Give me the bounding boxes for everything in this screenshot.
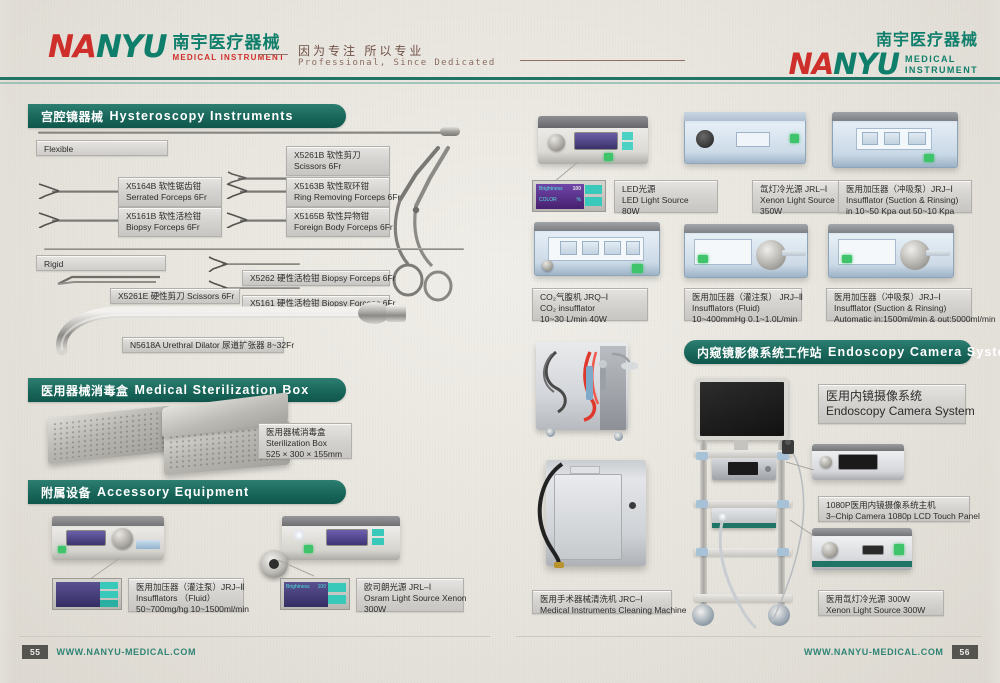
device-insufflators-fluid <box>684 224 808 278</box>
caption-scissors-flex: X5261B 软性剪刀 Scissors 6Fr <box>286 146 390 176</box>
footer-rule-right <box>516 636 982 637</box>
caption-ring-removing-cn: X5163B 软性取环钳 <box>294 181 382 192</box>
caption-led-en: LED Light Source <box>622 195 710 206</box>
caption-xenon-300w: 医用氙灯冷光源 300W Xenon Light Source 300W <box>818 590 944 616</box>
inset-insufflator-display <box>56 582 100 607</box>
logo-right: 南宇医疗器械 NANYU MEDICAL INSTRUMENT <box>788 26 978 79</box>
callout-line-xenon-300w <box>790 518 818 542</box>
footer-url-right[interactable]: WWW.NANYU-MEDICAL.COM <box>804 647 944 657</box>
caption-insufflators-fluid-cn: 医用加压器（灌注泵） JRJ–Ⅱ <box>692 292 794 303</box>
caption-camera-host-en: 3–Chip Camera 1080p LCD Touch Panel <box>826 511 962 522</box>
inset-osram-display: Brightness 100 <box>284 582 328 607</box>
device-led-power-led <box>604 153 613 161</box>
caption-serrated-cn: X5164B 软性锯齿钳 <box>126 181 214 192</box>
device-xenon-top <box>684 112 806 121</box>
caption-cleaning-machine: 医用手术器械清洗机 JRC–Ⅰ Medical Instruments Clea… <box>532 590 672 614</box>
cleaning-machine-caster-1 <box>546 428 555 437</box>
device-insufflator-knob <box>112 528 133 549</box>
footer-left: 55 WWW.NANYU-MEDICAL.COM <box>22 645 196 659</box>
device-insufflator-suction-1 <box>832 112 958 168</box>
caption-led-light-source: LED光源 LED Light Source 80W <box>614 180 718 213</box>
device-insufflator-display <box>66 530 106 546</box>
caption-camera-host-cn: 1080P医用内镜摄像系统主机 <box>826 500 962 511</box>
device-co2-readout-4 <box>626 241 640 255</box>
cleaning-machine-label-plate <box>570 466 600 474</box>
caption-biopsy-flex-en: Biopsy Forceps 6Fr <box>126 222 214 233</box>
catalog-spread: NANYU 南宇医疗器械 MEDICAL INSTRUMENT 因为专注 所以专… <box>0 0 1000 683</box>
page-header: NANYU 南宇医疗器械 MEDICAL INSTRUMENT 因为专注 所以专… <box>0 22 1000 80</box>
inset-led-display: Brightness 100 COLOR % <box>536 184 584 209</box>
caption-insufflator-suction-auto-spec: Automatic in:1500ml/min & out:5000ml/min <box>834 314 964 325</box>
logo-right-sub2: INSTRUMENT <box>905 65 978 76</box>
jaw-ring-removing-icon <box>226 183 248 199</box>
inset-insufflator-btn3 <box>100 600 118 607</box>
device-co2-insufflator <box>534 222 660 276</box>
caption-cleaning-machine-en: Medical Instruments Cleaning Machine <box>540 605 664 616</box>
header-rule-secondary <box>0 82 1000 84</box>
device-co2-top <box>534 222 660 231</box>
inset-led-secondary-label: COLOR <box>539 197 557 203</box>
device-xenon-power-led <box>790 134 799 143</box>
caption-endoscopy-camera-cn: 医用内镜摄像系统 <box>826 389 958 404</box>
caption-insufflator-suction-auto: 医用加压器（冲吸泵）JRJ–Ⅰ Insufflator (Suction & R… <box>826 288 972 321</box>
jaw-foreign-body-icon <box>226 212 248 228</box>
footer-rule-left <box>20 636 490 637</box>
callout-line-osram <box>276 556 318 580</box>
caption-insufflators-fluid: 医用加压器（灌注泵） JRJ–Ⅱ Insufflators (Fluid) 10… <box>684 288 802 321</box>
device-xenon-300w-top <box>812 528 912 536</box>
trolley-joint-1 <box>696 452 708 460</box>
caption-biopsy-flex: X5161B 软性活检钳 Biopsy Forceps 6Fr <box>118 207 222 237</box>
device-insufflator-suction-1-top <box>832 112 958 121</box>
slogan-rule-right <box>520 60 685 61</box>
device-co2-readout-2 <box>582 241 599 255</box>
device-camera-host-screen <box>838 454 878 470</box>
caption-led-spec: 80W <box>622 206 710 217</box>
caption-co2-insufflator: CO₂气腹机 JRQ–Ⅰ CO₂ insufflator 10~30 L/min… <box>532 288 648 321</box>
section-banner-accessory: 附属设备 Accessory Equipment <box>28 480 346 504</box>
caption-urethral-dilator: N5618A Urethral Dilator 尿道扩张器 8~32Fr <box>122 337 284 353</box>
device-insufflator-port <box>136 540 160 549</box>
caption-foreign-body-en: Foreign Body Forceps 6Fr <box>294 222 382 233</box>
trolley-joint-5 <box>696 548 708 556</box>
jaw-biopsy-x5262-icon <box>208 256 228 272</box>
device-insufflator-suction-auto-tubing <box>926 250 950 256</box>
caption-accessory-insufflator-en: Insufflators （Fluid） <box>136 593 236 604</box>
jaw-biopsy-flex-icon <box>38 212 60 228</box>
device-osram-display <box>326 529 368 546</box>
device-co2-power-led <box>632 264 643 273</box>
inset-osram-brightness-value: 100 <box>318 584 326 590</box>
tag-rigid-label: Rigid <box>44 259 158 270</box>
device-insufflators-fluid-top <box>684 224 808 233</box>
page-number-left: 55 <box>22 645 48 659</box>
device-camera-host-top <box>812 444 904 451</box>
caption-insufflator-suction-1-spec: in 10~50 Kpa out 50~10 Kpa <box>846 206 964 217</box>
device-camera-host-knob <box>820 456 832 468</box>
instrument-shaft-biopsy-x5262 <box>222 263 300 265</box>
caption-xenon-300w-en: Xenon Light Source 300W <box>826 605 936 616</box>
device-led-light-source <box>538 116 648 164</box>
inset-osram-brightness-label: Brightness <box>286 584 310 590</box>
device-osram-light-port <box>294 530 304 540</box>
caption-serrated-en: Serrated Forceps 6Fr <box>126 192 214 203</box>
device-osram-top <box>282 516 400 526</box>
caption-sterilization-cn: 医用器械消毒盒 <box>266 427 344 438</box>
slogan-cn: 因为专注 所以专业 <box>298 42 424 59</box>
section-banner-sterilization: 医用器械消毒盒 Medical Sterilization Box <box>28 378 346 402</box>
inset-led-panel: Brightness 100 COLOR % <box>532 180 606 212</box>
cleaning-machine-knob <box>629 502 636 509</box>
caption-biopsy-flex-cn: X5161B 软性活检钳 <box>126 211 214 222</box>
device-co2-readout-3 <box>604 241 621 255</box>
banner-cn-sterilization: 医用器械消毒盒 <box>41 382 129 399</box>
tag-flexible-label: Flexible <box>44 144 160 155</box>
trolley-joint-3 <box>696 500 708 508</box>
instrument-shaft-rigid-long <box>44 248 464 250</box>
caption-accessory-osram-cn: 欧司朗光源 JRL–Ⅰ <box>364 582 456 593</box>
logo-left-cn: 南宇医疗器械 <box>173 28 286 53</box>
caption-ring-removing: X5163B 软性取环钳 Ring Removing Forceps 6Fr <box>286 177 390 207</box>
caption-insufflator-suction-auto-cn: 医用加压器（冲吸泵）JRJ–Ⅰ <box>834 292 964 303</box>
device-insufflator-fluid <box>52 516 164 560</box>
device-xenon-control-panel <box>736 132 770 147</box>
banner-cn-hysteroscopy: 宫腔镜器械 <box>41 108 104 125</box>
caption-sterilization-size: 525 × 300 × 155mm <box>266 449 344 460</box>
caption-insufflator-suction-1-cn: 医用加压器（冲吸泵）JRJ–Ⅰ <box>846 184 964 195</box>
footer-right: WWW.NANYU-MEDICAL.COM 56 <box>804 645 978 659</box>
caption-endoscopy-camera-system: 医用内镜摄像系统 Endoscopy Camera System <box>818 384 966 424</box>
device-insufflator-suction-1-power-led <box>924 154 934 162</box>
caption-co2-en: CO₂ insufflator <box>540 303 640 314</box>
caption-foreign-body: X5165B 软性异物钳 Foreign Body Forceps 6Fr <box>286 207 390 237</box>
caption-insufflator-suction-auto-en: Insufflator (Suction & Rinsing) <box>834 303 964 314</box>
inset-led-btn-up <box>585 185 602 194</box>
caption-insufflators-fluid-spec: 10~400mmHg 0.1~1.0L/min <box>692 314 794 325</box>
trolley-caster-left <box>692 604 714 626</box>
caption-scissors-flex-cn: X5261B 软性剪刀 <box>294 150 382 161</box>
caption-xenon-300w-cn: 医用氙灯冷光源 300W <box>826 594 936 605</box>
sterilization-box-closed <box>48 406 170 465</box>
caption-ring-removing-en: Ring Removing Forceps 6Fr <box>294 192 382 203</box>
instrument-handle-flexible-long <box>440 127 460 136</box>
device-led-knob <box>548 134 565 151</box>
device-osram-btn-up <box>372 529 384 536</box>
instrument-shaft-flexible-long <box>38 131 443 134</box>
caption-foreign-body-cn: X5165B 软性异物钳 <box>294 211 382 222</box>
caption-co2-cn: CO₂气腹机 JRQ–Ⅰ <box>540 292 640 303</box>
caption-endoscopy-camera-en: Endoscopy Camera System <box>826 404 958 419</box>
inset-osram-btn-up <box>328 583 346 592</box>
device-insufflator-suction-1-readout-1 <box>862 132 878 145</box>
device-xenon-300w <box>812 528 912 570</box>
logo-left: NANYU 南宇医疗器械 MEDICAL INSTRUMENT <box>48 28 285 63</box>
slogan-rule-left <box>258 54 288 55</box>
caption-biopsy-x5262-text: X5262 硬性活检钳 Biopsy Forceps 6Fr <box>250 273 396 284</box>
jaw-serrated-forceps-icon <box>38 183 60 199</box>
device-insufflator-suction-auto-top <box>828 224 954 233</box>
camera-system-monitor-screen <box>700 382 784 436</box>
device-osram-power-led <box>304 545 313 553</box>
device-insufflator-suction-auto-power-led <box>842 255 852 263</box>
cleaning-machine-black-hose <box>528 462 568 570</box>
caption-accessory-insufflator-cn: 医用加压器（灌注泵）JRJ–Ⅱ <box>136 582 236 593</box>
logo-right-wordmark: NANYU <box>788 50 899 79</box>
caption-insufflator-suction-1-en: Insufflator (Suction & Rinsing) <box>846 195 964 206</box>
caption-accessory-insufflator-spec: 50~700mg/hg 10~1500ml/min <box>136 604 236 615</box>
caption-insufflator-suction-1: 医用加压器（冲吸泵）JRJ–Ⅰ Insufflator (Suction & R… <box>838 180 972 213</box>
caption-serrated-forceps: X5164B 软性锯齿钳 Serrated Forceps 6Fr <box>118 177 222 207</box>
device-osram-btn-down <box>372 538 384 545</box>
device-insufflator-power-led <box>58 546 66 553</box>
device-xenon-light-port <box>696 130 714 148</box>
section-banner-camera-system: 内窥镜影像系统工作站 Endoscopy Camera System <box>684 340 972 364</box>
inset-insufflator-btn2 <box>100 591 118 598</box>
inset-led-btn-down <box>585 197 602 206</box>
device-co2-readout-1 <box>560 241 577 255</box>
trolley-post-left <box>700 440 707 620</box>
inset-insufflator-btn1 <box>100 582 118 589</box>
cleaning-machine-hoses <box>538 348 638 430</box>
device-led-display <box>574 132 618 150</box>
footer-url-left[interactable]: WWW.NANYU-MEDICAL.COM <box>56 647 196 657</box>
sterilization-box-perforations <box>52 410 166 460</box>
section-banner-hysteroscopy: 宫腔镜器械 Hysteroscopy Instruments <box>28 104 346 128</box>
caption-cleaning-machine-cn: 医用手术器械清洗机 JRC–Ⅰ <box>540 594 664 605</box>
device-led-btn-up <box>622 132 633 140</box>
banner-en-hysteroscopy: Hysteroscopy Instruments <box>110 109 294 123</box>
device-co2-gas-port <box>542 260 553 271</box>
callout-line-camera-host <box>786 460 818 474</box>
device-camera-host-1080p <box>812 444 904 480</box>
caption-accessory-osram-spec: 300W <box>364 604 456 615</box>
header-rule-primary <box>0 77 1000 80</box>
illustration-hysteroscope-forceps-large <box>386 140 496 310</box>
caption-biopsy-x5262: X5262 硬性活检钳 Biopsy Forceps 6Fr <box>242 270 390 286</box>
banner-cn-camera: 内窥镜影像系统工作站 <box>697 344 822 361</box>
caption-xenon-en: Xenon Light Source <box>760 195 848 206</box>
device-led-btn-down <box>622 142 633 150</box>
camera-system-monitor <box>696 378 788 440</box>
page-number-right: 56 <box>952 645 978 659</box>
device-xenon-300w-power-led <box>894 544 904 555</box>
inset-osram-btn-down <box>328 595 346 604</box>
caption-sterilization-box: 医用器械消毒盒 Sterilization Box 525 × 300 × 15… <box>258 423 352 459</box>
device-led-top <box>538 116 648 128</box>
logo-left-wordmark: NANYU <box>48 32 167 63</box>
inset-insufflator-panel <box>52 578 122 610</box>
caption-urethral-dilator-text: N5618A Urethral Dilator 尿道扩张器 8~32Fr <box>130 340 294 351</box>
device-insufflator-top <box>52 516 164 526</box>
caption-accessory-insufflator: 医用加压器（灌注泵）JRJ–Ⅱ Insufflators （Fluid） 50~… <box>128 578 244 612</box>
caption-xenon-cn: 氙灯冷光源 JRL–Ⅰ <box>760 184 848 195</box>
inset-led-brightness-value: 100 <box>573 186 581 192</box>
device-xenon-light-source <box>684 112 806 164</box>
banner-cn-accessory: 附属设备 <box>41 484 91 501</box>
caption-camera-host-1080p: 1080P医用内镜摄像系统主机 3–Chip Camera 1080p LCD … <box>818 496 970 522</box>
device-xenon-300w-stripe <box>812 561 912 567</box>
inset-osram-panel: Brightness 100 <box>280 578 350 610</box>
inset-led-brightness-label: Brightness <box>539 186 563 192</box>
caption-accessory-osram: 欧司朗光源 JRL–Ⅰ Osram Light Source Xenon 300… <box>356 578 464 612</box>
tag-flexible: Flexible <box>36 140 168 156</box>
inset-led-secondary-unit: % <box>577 197 581 203</box>
tag-rigid: Rigid <box>36 255 166 271</box>
slogan-en: Professional, Since Dedicated <box>298 58 496 68</box>
caption-xenon-spec: 350W <box>760 206 848 217</box>
caption-led-cn: LED光源 <box>622 184 710 195</box>
device-xenon-300w-knob <box>822 542 838 558</box>
device-xenon-300w-display <box>862 545 884 555</box>
device-insufflator-suction-1-readout-2 <box>884 132 900 145</box>
cleaning-machine-caster-2 <box>614 432 623 441</box>
logo-right-sub1: MEDICAL <box>905 54 978 65</box>
device-insufflators-fluid-power-led <box>698 255 708 263</box>
device-osram-light-source <box>282 516 400 560</box>
banner-en-accessory: Accessory Equipment <box>97 485 249 499</box>
caption-scissors-flex-en: Scissors 6Fr <box>294 161 382 172</box>
device-insufflator-suction-auto <box>828 224 954 278</box>
caption-insufflators-fluid-en: Insufflators (Fluid) <box>692 303 794 314</box>
caption-accessory-osram-en: Osram Light Source Xenon <box>364 593 456 604</box>
device-pump-tubing <box>782 250 806 256</box>
caption-sterilization-en: Sterilization Box <box>266 438 344 449</box>
device-insufflator-suction-1-readout-3 <box>908 132 926 145</box>
banner-en-camera: Endoscopy Camera System <box>828 345 1000 359</box>
caption-co2-spec: 10~30 L/min 40W <box>540 314 640 325</box>
